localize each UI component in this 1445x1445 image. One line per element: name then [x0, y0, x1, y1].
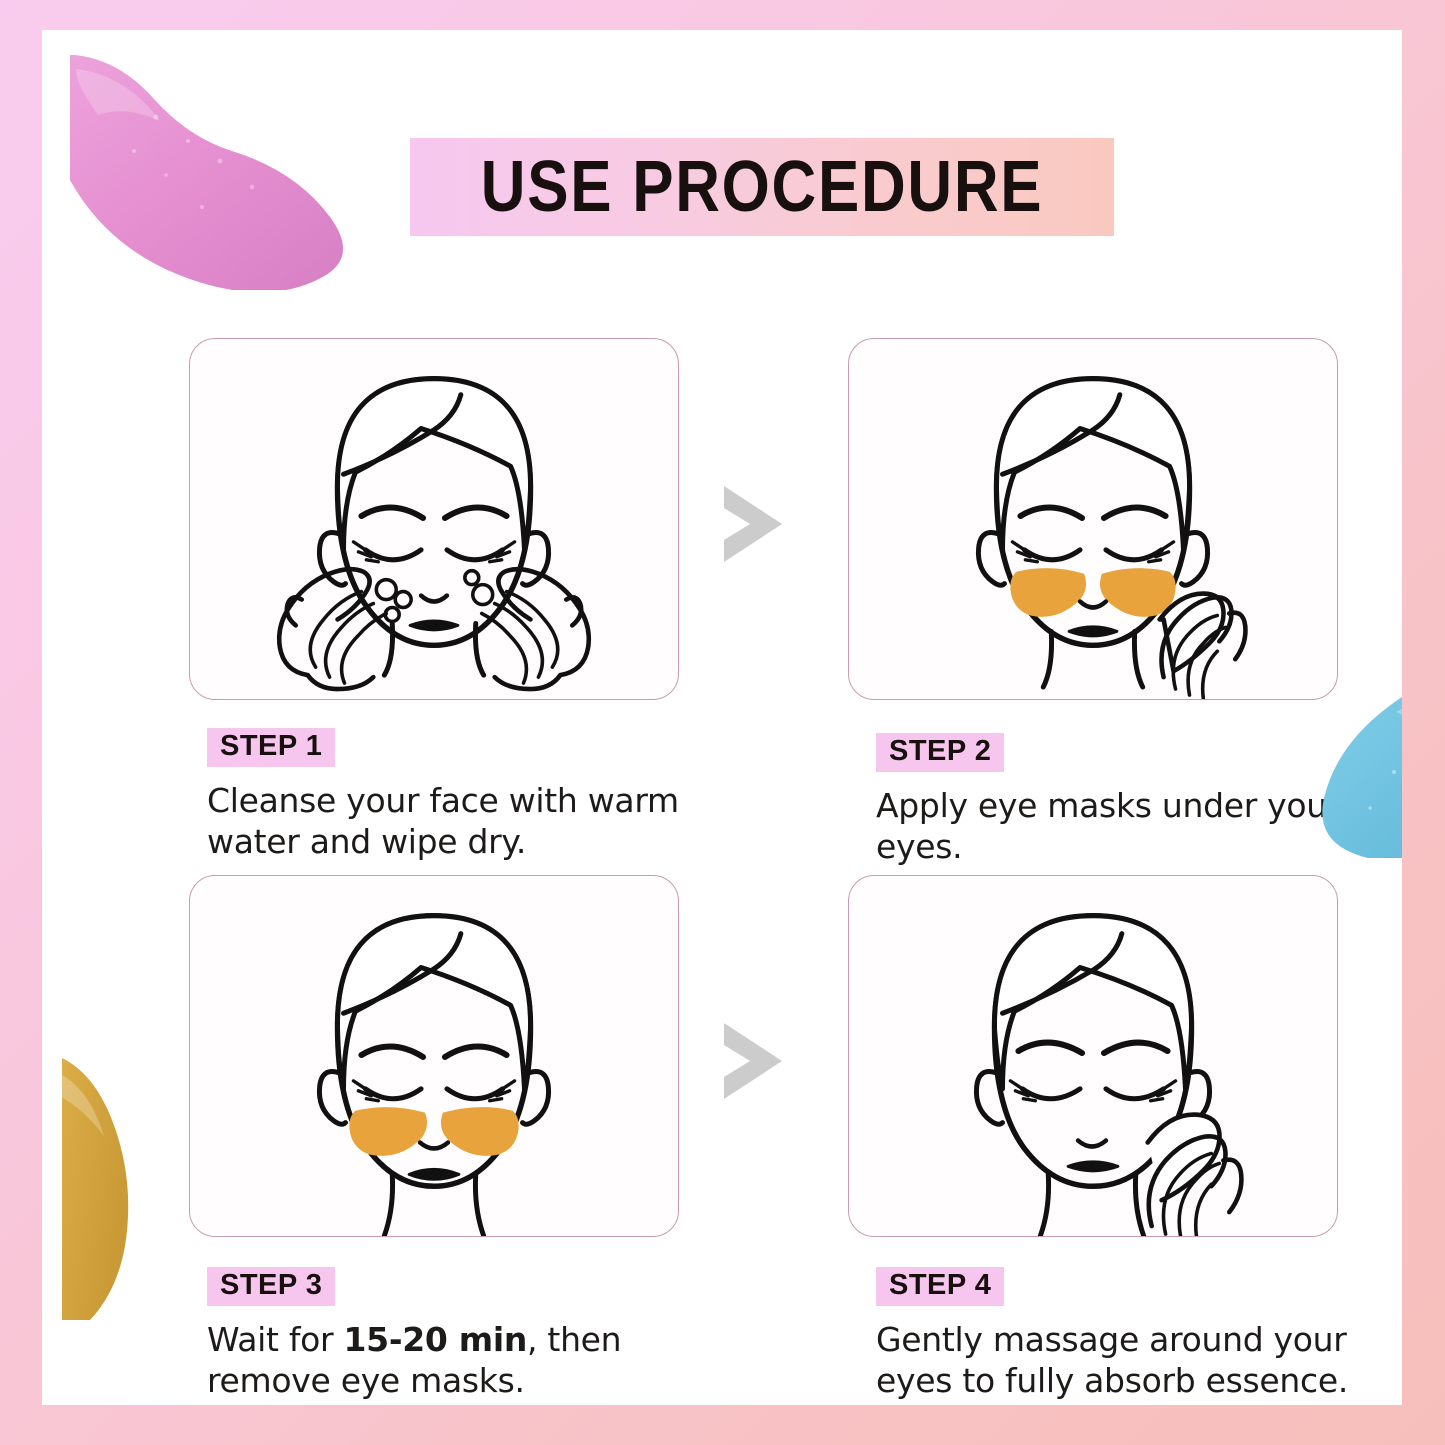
step-1-illustration-card [189, 338, 679, 700]
eye-patch-left [1010, 568, 1086, 617]
step-1-text-block: STEP 1 Cleanse your face with warm water… [207, 728, 727, 863]
step-2-label: STEP 2 [876, 733, 1004, 772]
page-title: USE PROCEDURE [481, 151, 1044, 223]
step-3-text-before: Wait for [207, 1320, 344, 1359]
step-4-text-block: STEP 4 Gently massage around your eyes t… [876, 1267, 1402, 1402]
step-4-description: Gently massage around your eyes to fully… [876, 1319, 1402, 1402]
face-applying-eye-patches-illustration [849, 339, 1337, 699]
step-2-illustration-card [848, 338, 1338, 700]
step-3-description: Wait for 15-20 min, then remove eye mask… [207, 1319, 747, 1402]
use-procedure-poster: STEP 1 Cleanse your face with warm water… [0, 0, 1445, 1445]
chevron-right-icon [710, 478, 802, 570]
face-washing-illustration [190, 339, 678, 699]
step-4-illustration-card [848, 875, 1338, 1237]
face-resting-with-eye-patches-illustration [190, 876, 678, 1236]
pink-gel-eye-patch-decoration [70, 55, 370, 290]
step-3-label: STEP 3 [207, 1267, 335, 1306]
eye-patch-left [349, 1107, 427, 1156]
step-2-text-block: STEP 2 Apply eye masks under your eyes. [876, 733, 1346, 868]
step-2-description: Apply eye masks under your eyes. [876, 785, 1346, 868]
step-4-label: STEP 4 [876, 1267, 1004, 1306]
step-1-description: Cleanse your face with warm water and wi… [207, 780, 727, 863]
step-3-duration: 15-20 min [344, 1320, 528, 1359]
chevron-right-icon [710, 1015, 802, 1107]
poster-inner-sheet: STEP 1 Cleanse your face with warm water… [42, 30, 1402, 1405]
step-3-text-block: STEP 3 Wait for 15-20 min, then remove e… [207, 1267, 747, 1402]
step-3-illustration-card [189, 875, 679, 1237]
step-1-label: STEP 1 [207, 728, 335, 767]
face-massaging-illustration [849, 876, 1337, 1236]
eye-patch-right [441, 1107, 519, 1156]
eye-patch-right [1100, 568, 1176, 617]
page-title-badge: USE PROCEDURE [410, 138, 1114, 236]
